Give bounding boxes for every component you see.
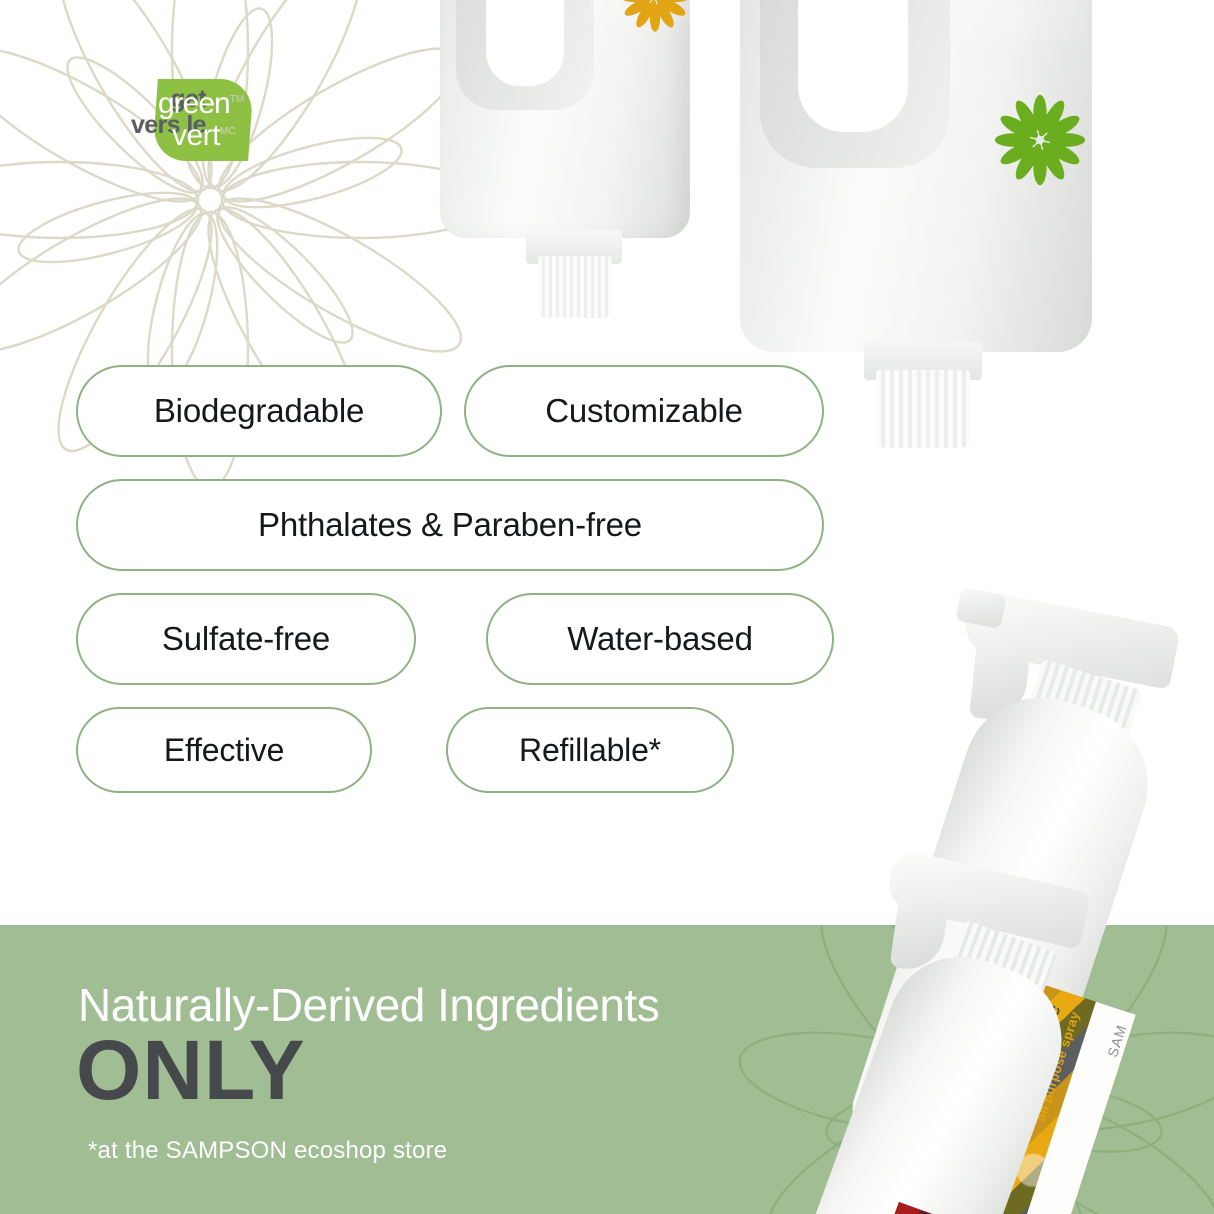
feature-row-2: Phthalates & Paraben-free [76, 479, 836, 571]
spray-nozzle [877, 846, 927, 887]
footer-emphasis-only: ONLY [76, 1025, 306, 1115]
dahlia-icon-amber [618, 0, 692, 34]
feature-pill-customizable[interactable]: Customizable [464, 365, 824, 457]
trademark-mc: MC [220, 126, 236, 137]
spray-nozzle [955, 587, 1007, 629]
feature-pill-effective[interactable]: Effective [76, 707, 372, 793]
jug-handle-hole [798, 0, 908, 132]
feature-pill-list: Biodegradable Customizable Phthalates & … [76, 365, 836, 815]
spray-label-artwork [807, 1202, 1059, 1214]
jug-cap [876, 370, 970, 448]
logo-green-label: greenTM [158, 86, 244, 117]
dahlia-icon-green [992, 92, 1088, 188]
brand-logo: get vers le greenTM vertMC [96, 86, 266, 156]
feature-pill-biodegradable[interactable]: Biodegradable [76, 365, 442, 457]
feature-row-3: Sulfate-free Water-based [76, 593, 836, 685]
feature-pill-sulfate-free[interactable]: Sulfate-free [76, 593, 416, 685]
feature-row-1: Biodegradable Customizable [76, 365, 836, 457]
product-jug-fabric-softener: ssant c softener [440, 0, 690, 290]
logo-vert-label: vertMC [172, 117, 244, 151]
feature-pill-refillable[interactable]: Refillable* [446, 707, 734, 793]
feature-row-4: Effective Refillable* [76, 707, 836, 793]
footer-footnote: *at the SAMPSON ecoshop store [88, 1137, 447, 1165]
jug-label-panel [958, 0, 1088, 42]
feature-pill-phthalates-paraben-free[interactable]: Phthalates & Paraben-free [76, 479, 824, 571]
jug-handle-hole [486, 0, 564, 86]
feature-pill-water-based[interactable]: Water-based [486, 593, 834, 685]
jug-cap [538, 256, 612, 318]
trademark-tm: TM [230, 94, 244, 105]
logo-text-green: greenTM vertMC [158, 86, 244, 151]
infographic-page: get vers le greenTM vertMC ssant c softe… [0, 0, 1214, 1214]
